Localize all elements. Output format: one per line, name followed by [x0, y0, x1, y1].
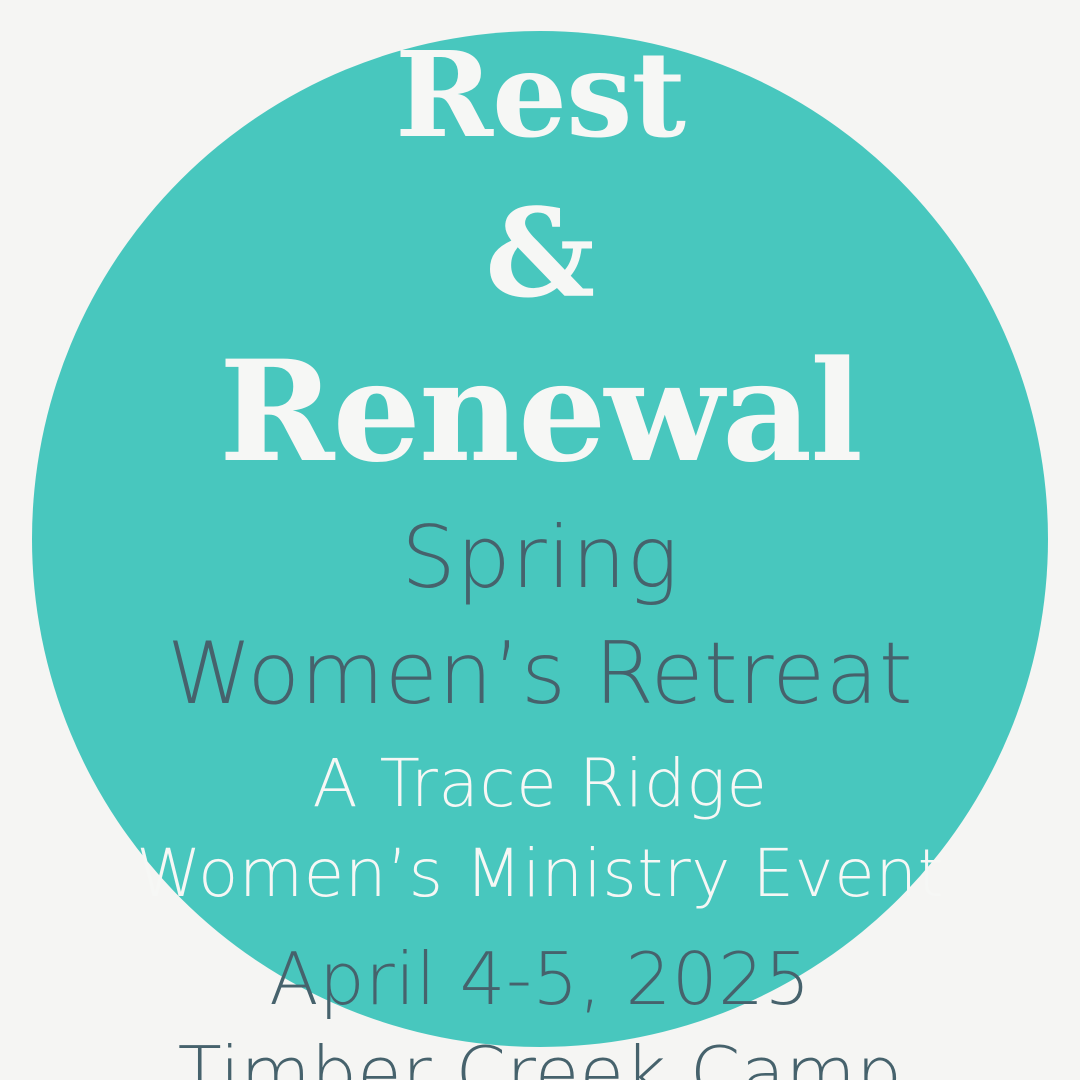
- headline-line-renewal: Renewal: [0, 342, 1080, 481]
- poster-content: Rest & Renewal Spring Women’s Retreat A …: [0, 0, 1080, 1080]
- organization-line-ministry-event: Women’s Ministry Event: [0, 841, 1080, 907]
- event-date: April 4-5, 2025: [0, 943, 1080, 1015]
- poster-canvas: Rest & Renewal Spring Women’s Retreat A …: [0, 0, 1080, 1080]
- headline-ampersand: &: [0, 192, 1080, 314]
- event-venue: Timber Creek Camp: [0, 1037, 1080, 1080]
- subtitle-line-spring: Spring: [0, 515, 1080, 601]
- headline-line-rest: Rest: [0, 36, 1080, 154]
- organization-line-trace-ridge: A Trace Ridge: [0, 751, 1080, 817]
- subtitle-line-womens-retreat: Women’s Retreat: [0, 631, 1080, 717]
